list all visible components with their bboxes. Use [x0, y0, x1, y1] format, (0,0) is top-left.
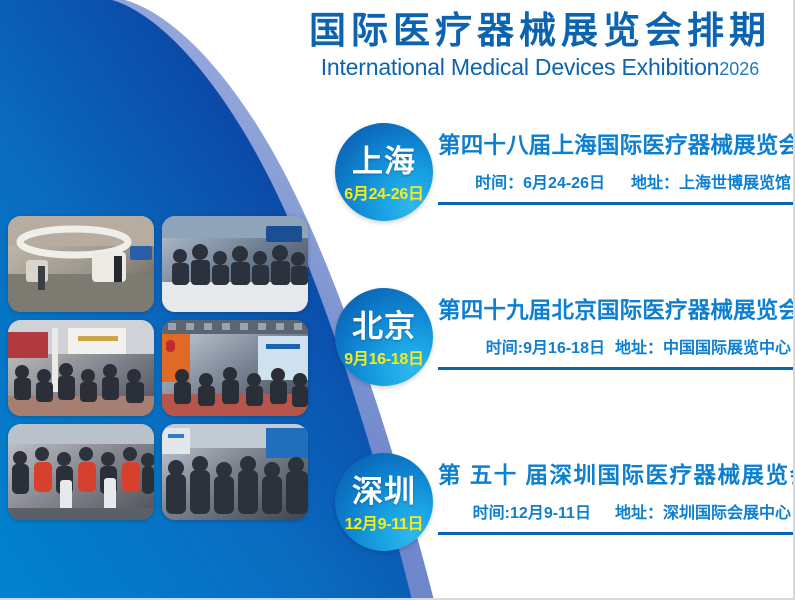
event-address: 地址：深圳国际会展中心	[615, 499, 791, 523]
event-divider	[438, 532, 793, 535]
event-meta: 时间:9月16-18日 地址：中国国际展览中心	[438, 334, 795, 358]
photo-gallery	[8, 216, 308, 520]
event-title: 第 五十 届深圳国际医疗器械展览会	[438, 462, 795, 490]
event-meta: 时间:12月9-11日 地址：深圳国际会展中心	[438, 499, 795, 523]
event-time: 时间:12月9-11日	[473, 499, 591, 523]
city-badge-beijing[interactable]: 北京 9月16-18日	[335, 288, 433, 386]
event-title: 第四十九届北京国际医疗器械展览会	[438, 297, 795, 325]
city-name: 上海	[352, 146, 416, 177]
event-address-value: 中国国际展览中心	[663, 340, 791, 357]
city-badge-date: 9月16-18日	[344, 352, 423, 368]
event-time-value: 9月16-18日	[523, 340, 605, 357]
event-title: 第四十八届上海国际医疗器械展览会	[438, 132, 795, 160]
gallery-photo	[162, 320, 308, 416]
event-row-beijing[interactable]: 北京 9月16-18日 第四十九届北京国际医疗器械展览会 时间:9月16-18日…	[330, 283, 795, 448]
city-badge-shenzhen[interactable]: 深圳 12月9-11日	[335, 453, 433, 551]
event-body: 第 五十 届深圳国际医疗器械展览会 时间:12月9-11日 地址：深圳国际会展中…	[438, 462, 795, 523]
event-address-value: 上海世博展览馆	[679, 175, 791, 192]
event-row-shanghai[interactable]: 上海 6月24-26日 第四十八届上海国际医疗器械展览会 时间：6月24-26日…	[330, 118, 795, 283]
event-divider	[438, 202, 793, 205]
event-time-value: 6月24-26日	[523, 175, 605, 192]
event-time-label: 时间:	[486, 340, 523, 357]
event-time-label: 时间:	[473, 505, 510, 522]
event-time: 时间:9月16-18日	[486, 334, 605, 358]
event-time: 时间：6月24-26日	[475, 169, 605, 193]
event-address-label: 地址：	[615, 340, 663, 357]
gallery-photo	[8, 424, 154, 520]
city-badge-date: 6月24-26日	[344, 187, 423, 203]
event-time-label: 时间：	[475, 175, 523, 192]
event-divider	[438, 367, 793, 370]
event-address-label: 地址：	[615, 505, 663, 522]
event-schedule-list: 上海 6月24-26日 第四十八届上海国际医疗器械展览会 时间：6月24-26日…	[330, 118, 795, 600]
event-address: 地址：上海世博展览馆	[631, 169, 791, 193]
event-meta: 时间：6月24-26日 地址：上海世博展览馆	[438, 169, 795, 193]
gallery-photo	[8, 216, 154, 312]
city-badge-date: 12月9-11日	[345, 517, 424, 533]
city-name: 北京	[352, 311, 416, 342]
exhibition-schedule-poster: 国际医疗器械展览会排期 International Medical Device…	[0, 0, 795, 600]
city-name: 深圳	[352, 476, 416, 507]
event-address: 地址：中国国际展览中心	[615, 334, 791, 358]
gallery-photo	[8, 320, 154, 416]
event-body: 第四十九届北京国际医疗器械展览会 时间:9月16-18日 地址：中国国际展览中心	[438, 297, 795, 358]
event-body: 第四十八届上海国际医疗器械展览会 时间：6月24-26日 地址：上海世博展览馆	[438, 132, 795, 193]
gallery-photo	[162, 216, 308, 312]
event-row-shenzhen[interactable]: 深圳 12月9-11日 第 五十 届深圳国际医疗器械展览会 时间:12月9-11…	[330, 448, 795, 600]
city-badge-shanghai[interactable]: 上海 6月24-26日	[335, 123, 433, 221]
event-address-value: 深圳国际会展中心	[663, 505, 791, 522]
gallery-photo	[162, 424, 308, 520]
event-address-label: 地址：	[631, 175, 679, 192]
event-time-value: 12月9-11日	[510, 505, 591, 522]
